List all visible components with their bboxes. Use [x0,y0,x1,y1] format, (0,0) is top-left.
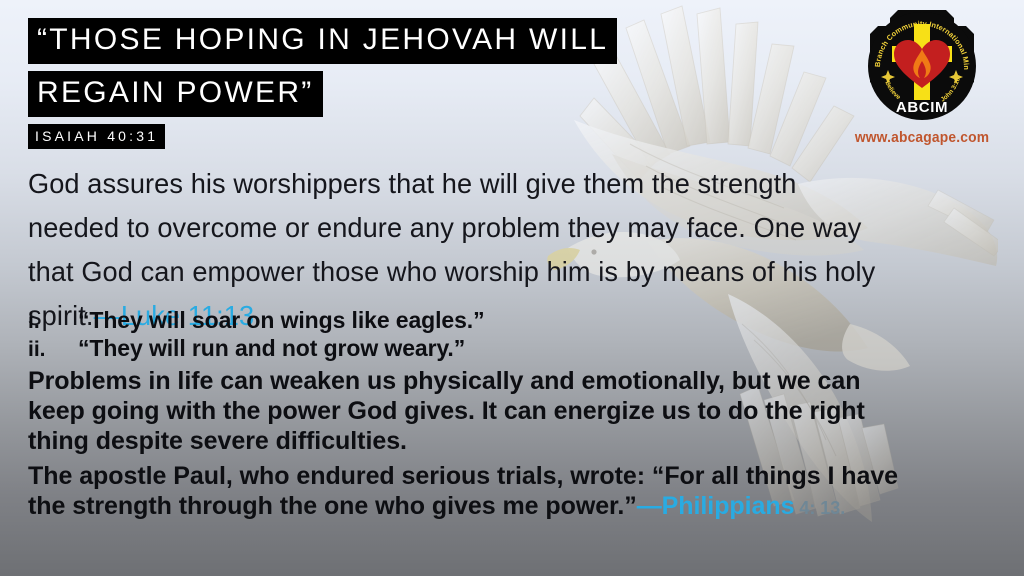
abcim-logo-icon: Agape Branch Community International Min… [862,6,982,126]
roman-numeral-list: i. “They will soar on wings like eagles.… [28,307,728,363]
slide-canvas: “THOSE HOPING IN JEHOVAH WILL REGAIN POW… [0,0,1024,576]
list-item-marker: i. [28,308,78,335]
svg-text:ABCIM: ABCIM [896,99,948,116]
list-item-label: “They will run and not grow weary.” [78,335,465,362]
list-item: ii. “They will run and not grow weary.” [28,335,728,363]
paul-paragraph: The apostle Paul, who endured serious tr… [28,461,924,523]
logo-block: Agape Branch Community International Min… [849,6,995,146]
title-line-1: “THOSE HOPING IN JEHOVAH WILL [28,18,617,64]
problems-paragraph: Problems in life can weaken us physicall… [28,366,924,456]
paul-dash: — [637,492,662,520]
title-line-2: REGAIN POWER” [28,71,323,117]
logo-website-url[interactable]: www.abcagape.com [855,129,989,146]
citation-philippians-verse: 4: 13. [794,498,845,518]
title-block: “THOSE HOPING IN JEHOVAH WILL REGAIN POW… [28,18,617,149]
list-item-marker: ii. [28,336,78,363]
list-item-label: “They will soar on wings like eagles.” [78,307,485,334]
citation-philippians-book: Philippians [662,492,795,520]
scripture-reference-badge: ISAIAH 40:31 [28,124,165,149]
list-item: i. “They will soar on wings like eagles.… [28,307,728,335]
